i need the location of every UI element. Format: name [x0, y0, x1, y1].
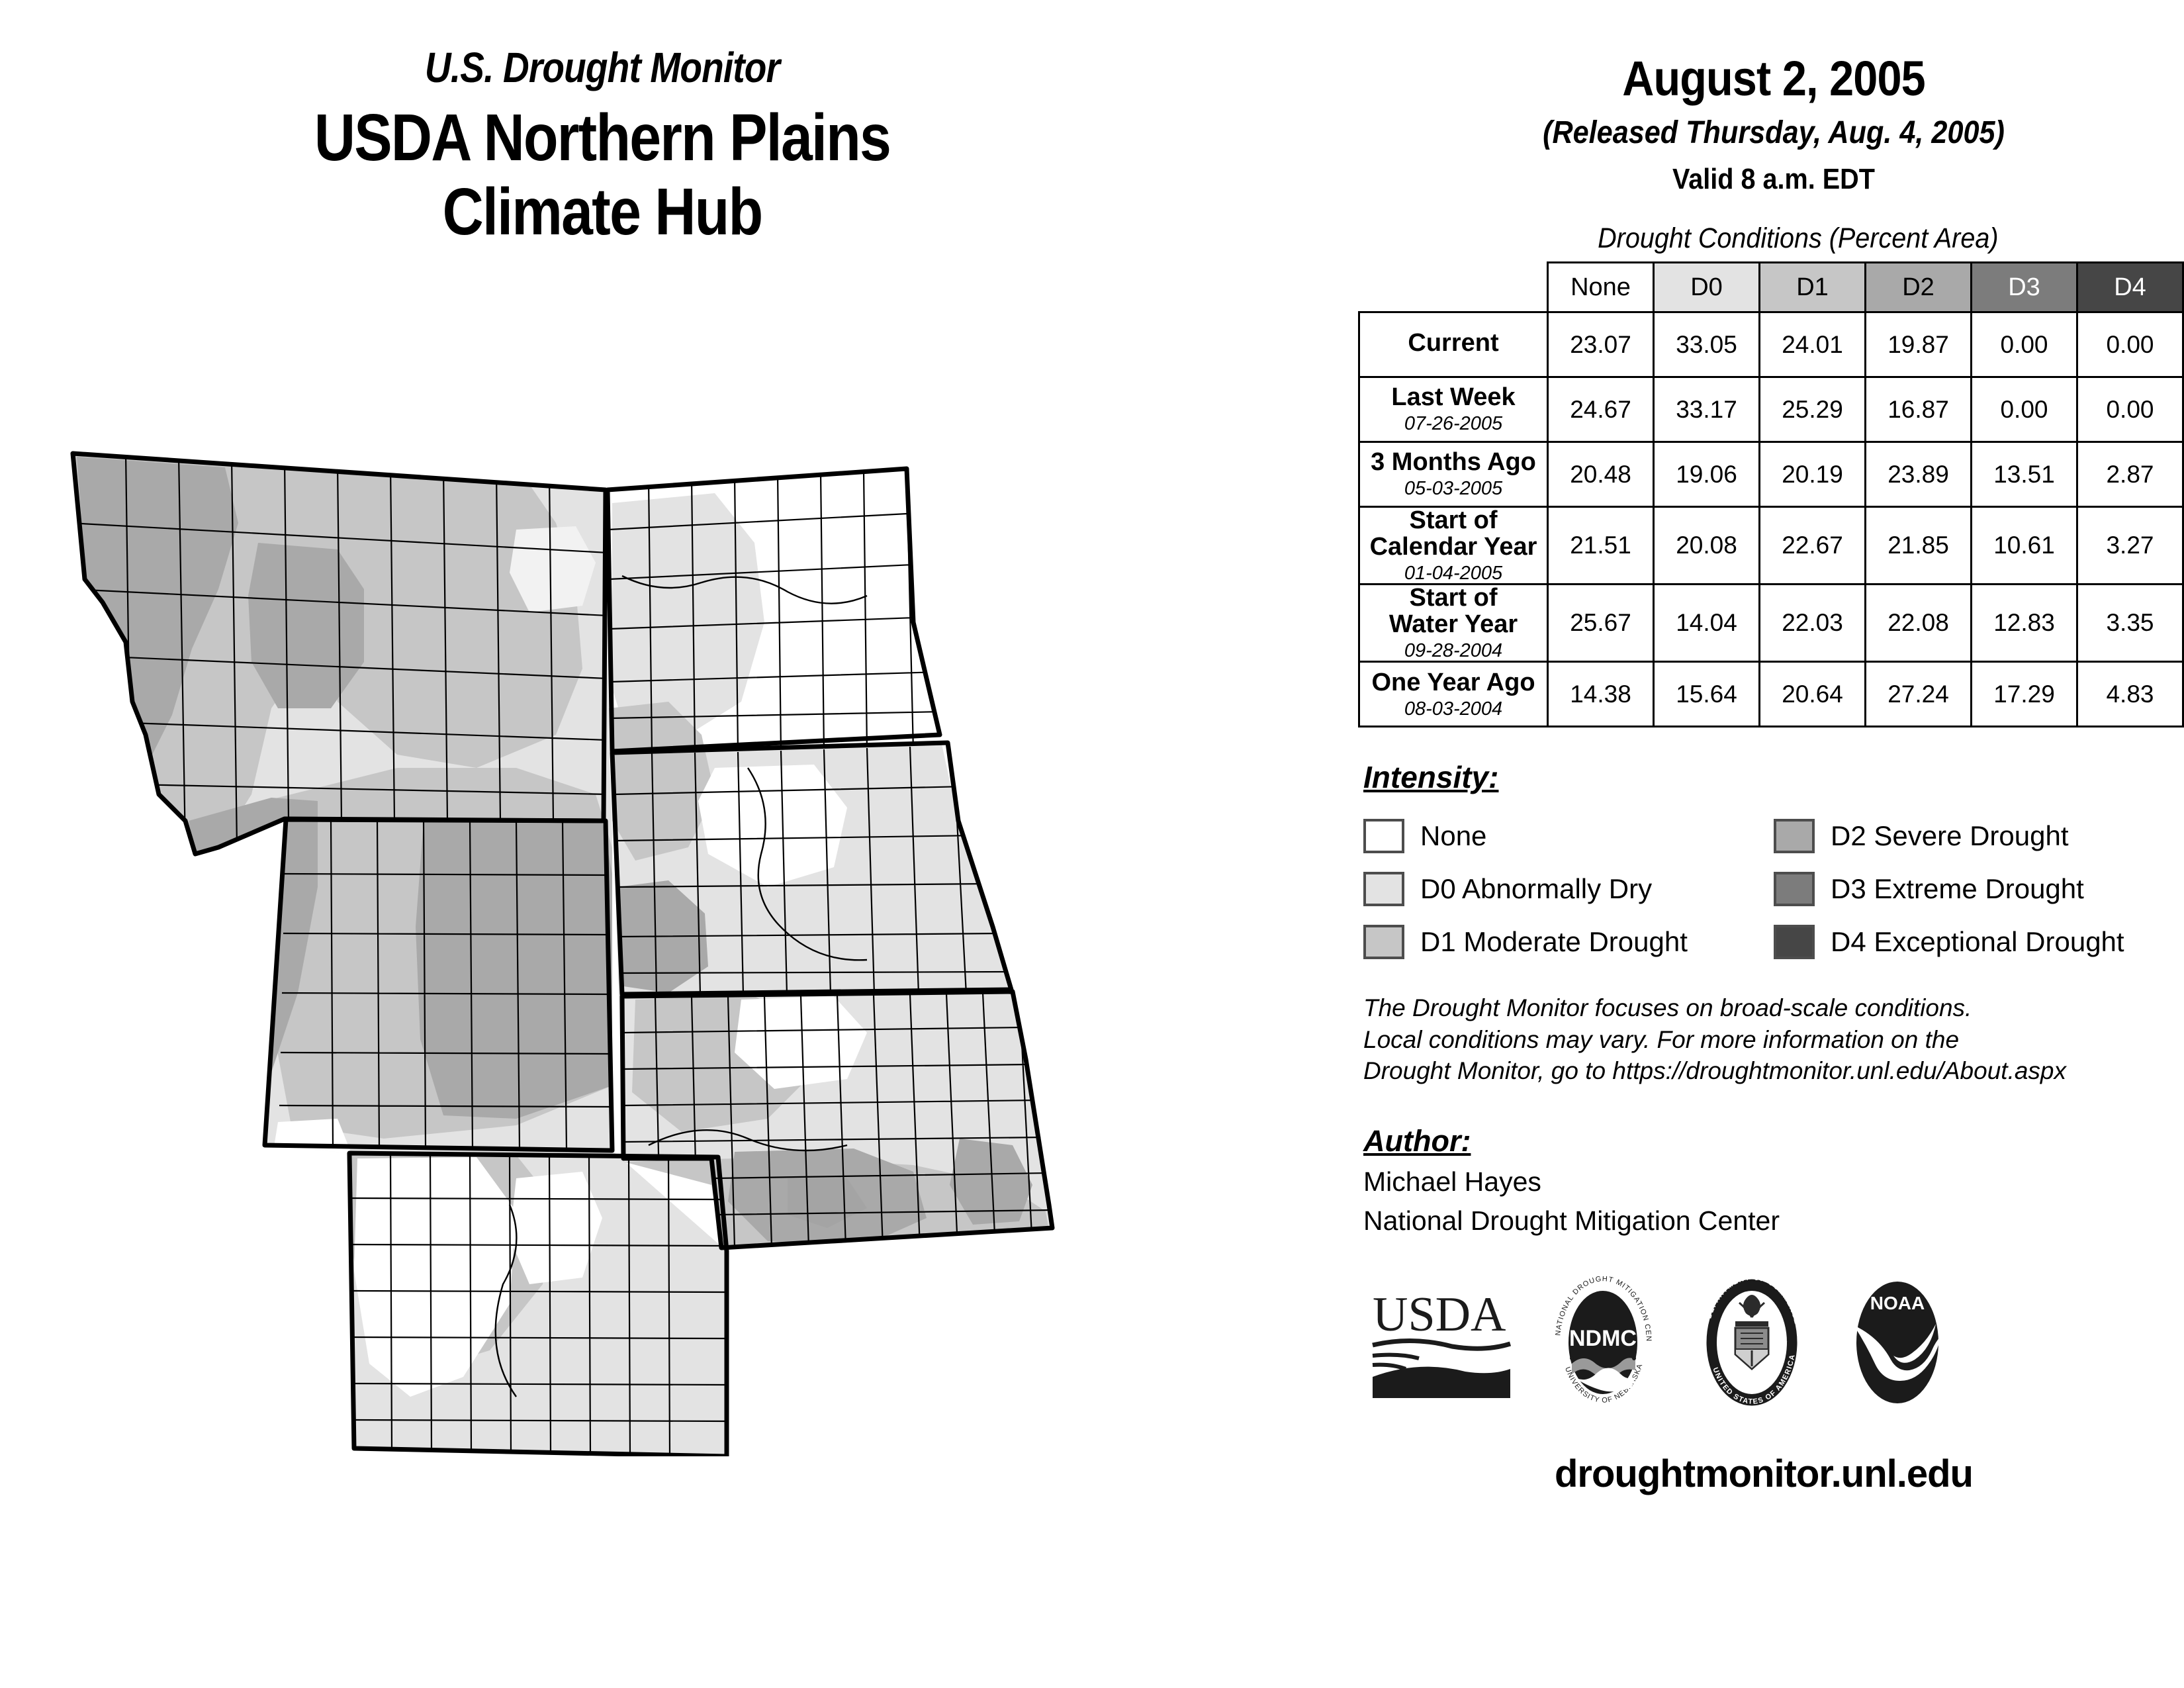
cell-d0: 14.04 [1654, 585, 1760, 662]
column-header-d1: D1 [1760, 263, 1866, 312]
release-date: (Released Thursday, Aug. 4, 2005) [1404, 115, 2143, 151]
none-pocket-wy-sw [273, 1119, 351, 1185]
swatch-d1-icon [1363, 925, 1404, 959]
cell-d2: 22.08 [1866, 585, 1972, 662]
table-header-row: None D0 D1 D2 D3 D4 [1359, 263, 2183, 312]
cell-d2: 23.89 [1866, 442, 1972, 507]
row-label-date: 08-03-2004 [1360, 699, 1547, 719]
page-title: USDA Northern Plains Climate Hub [84, 101, 1120, 249]
noaa-logo[interactable]: NOAA [1843, 1276, 1952, 1412]
cell-none: 21.51 [1548, 507, 1654, 585]
legend-label: D4 Exceptional Drought [1831, 926, 2124, 958]
legend-title: Intensity: [1363, 759, 2184, 795]
svg-text:NOAA: NOAA [1870, 1293, 1925, 1313]
disclaimer-text: The Drought Monitor focuses on broad-sca… [1363, 992, 2184, 1086]
column-header-d0: D0 [1654, 263, 1760, 312]
author-affiliation: National Drought Mitigation Center [1363, 1205, 2184, 1237]
row-label-text: Start ofCalendar Year [1360, 508, 1547, 561]
row-label-date: 09-28-2004 [1360, 641, 1547, 661]
table-row: Current 23.07 33.05 24.01 19.87 0.00 0.0… [1359, 312, 2183, 377]
table-row: Start ofWater Year 09-28-2004 25.67 14.0… [1359, 585, 2183, 662]
title-block: U.S. Drought Monitor USDA Northern Plain… [0, 46, 1205, 249]
author-name: Michael Hayes [1363, 1166, 2184, 1197]
cell-d3: 10.61 [1972, 507, 2077, 585]
legend-label: D1 Moderate Drought [1420, 926, 1688, 958]
cell-d3: 0.00 [1972, 312, 2077, 377]
page-title-line1: USDA Northern Plains [84, 101, 1120, 175]
svg-text:★: ★ [1779, 1337, 1788, 1348]
doc-seal-logo[interactable]: DEPARTMENT OF COMMERCE UNITED STATES OF … [1694, 1276, 1810, 1412]
author-title: Author: [1363, 1124, 2184, 1158]
valid-time: Valid 8 a.m. EDT [1404, 163, 2143, 196]
cell-none: 23.07 [1548, 312, 1654, 377]
table-row: Start ofCalendar Year 01-04-2005 21.51 2… [1359, 507, 2183, 585]
page-title-line2: Climate Hub [84, 175, 1120, 249]
cell-d4: 0.00 [2077, 377, 2183, 442]
swatch-d4-icon [1774, 925, 1815, 959]
cell-d0: 33.05 [1654, 312, 1760, 377]
disclaimer-line-1: The Drought Monitor focuses on broad-sca… [1363, 992, 2184, 1023]
cell-d3: 12.83 [1972, 585, 2077, 662]
map-svg[interactable] [53, 424, 1310, 1456]
cell-d2: 16.87 [1866, 377, 1972, 442]
cell-d0: 15.64 [1654, 662, 1760, 727]
logo-row: USDA NATIONAL DROUGHT MITIGATION C [1363, 1276, 2184, 1412]
row-label-text: Start ofWater Year [1360, 585, 1547, 638]
row-label-3-months-ago: 3 Months Ago 05-03-2005 [1359, 442, 1548, 507]
cell-d4: 4.83 [2077, 662, 2183, 727]
swatch-none-icon [1363, 819, 1404, 853]
column-header-d3: D3 [1972, 263, 2077, 312]
footer-url[interactable]: droughtmonitor.unl.edu [1363, 1452, 2184, 1496]
ndmc-logo[interactable]: NATIONAL DROUGHT MITIGATION CENTER UNIVE… [1545, 1276, 1661, 1412]
column-header-none: None [1548, 263, 1654, 312]
row-label-one-year-ago: One Year Ago 08-03-2004 [1359, 662, 1548, 727]
cell-d4: 0.00 [2077, 312, 2183, 377]
drought-map[interactable] [53, 424, 1310, 1456]
legend-item-d4: D4 Exceptional Drought [1774, 915, 2184, 968]
legend-column-left: None D0 Abnormally Dry D1 Moderate Droug… [1363, 810, 1774, 968]
drought-conditions-table: None D0 D1 D2 D3 D4 Current 23.07 33.05 … [1358, 261, 2184, 727]
right-column: August 2, 2005 (Released Thursday, Aug. … [1363, 0, 2184, 1688]
legend-item-d2: D2 Severe Drought [1774, 810, 2184, 863]
table-caption: Drought Conditions (Percent Area) [1396, 222, 2152, 255]
swatch-d3-icon [1774, 872, 1815, 906]
cell-d1: 22.67 [1760, 507, 1866, 585]
row-label-date: 05-03-2005 [1360, 479, 1547, 498]
row-label-last-week: Last Week 07-26-2005 [1359, 377, 1548, 442]
svg-text:NDMC: NDMC [1569, 1326, 1637, 1351]
disclaimer-line-2: Local conditions may vary. For more info… [1363, 1024, 2184, 1055]
drought-monitor-page: U.S. Drought Monitor USDA Northern Plain… [0, 0, 2184, 1688]
swatch-d2-icon [1774, 819, 1815, 853]
cell-none: 24.67 [1548, 377, 1654, 442]
cell-d1: 20.19 [1760, 442, 1866, 507]
left-column: U.S. Drought Monitor USDA Northern Plain… [0, 0, 1357, 1688]
program-title: U.S. Drought Monitor [84, 46, 1120, 89]
table-row: 3 Months Ago 05-03-2005 20.48 19.06 20.1… [1359, 442, 2183, 507]
legend-item-d0: D0 Abnormally Dry [1363, 863, 1774, 915]
legend-item-none: None [1363, 810, 1774, 863]
cell-d3: 17.29 [1972, 662, 2077, 727]
cell-d1: 22.03 [1760, 585, 1866, 662]
table-corner-cell [1359, 263, 1548, 312]
row-label-date: 07-26-2005 [1360, 414, 1547, 434]
row-label-current: Current [1359, 312, 1548, 377]
disclaimer-line-3[interactable]: Drought Monitor, go to https://droughtmo… [1363, 1055, 2184, 1086]
report-date: August 2, 2005 [1404, 50, 2143, 107]
cell-d0: 33.17 [1654, 377, 1760, 442]
row-label-start-of-calendar-year: Start ofCalendar Year 01-04-2005 [1359, 507, 1548, 585]
cell-d2: 21.85 [1866, 507, 1972, 585]
row-label-start-of-water-year: Start ofWater Year 09-28-2004 [1359, 585, 1548, 662]
svg-text:USDA: USDA [1373, 1288, 1506, 1342]
legend-item-d1: D1 Moderate Drought [1363, 915, 1774, 968]
column-header-d2: D2 [1866, 263, 1972, 312]
cell-d3: 13.51 [1972, 442, 2077, 507]
cell-d2: 27.24 [1866, 662, 1972, 727]
legend-label: None [1420, 820, 1486, 852]
cell-d2: 19.87 [1866, 312, 1972, 377]
swatch-d0-icon [1363, 872, 1404, 906]
cell-d4: 2.87 [2077, 442, 2183, 507]
cell-d3: 0.00 [1972, 377, 2077, 442]
cell-none: 25.67 [1548, 585, 1654, 662]
row-label-text: Current [1360, 330, 1547, 357]
cell-d1: 25.29 [1760, 377, 1866, 442]
intensity-legend: Intensity: None D0 Abnormally Dry D1 Mod… [1363, 759, 2184, 968]
row-label-text: One Year Ago [1360, 670, 1547, 696]
d2-region-wy-core [416, 821, 612, 1119]
table-row: One Year Ago 08-03-2004 14.38 15.64 20.6… [1359, 662, 2183, 727]
table-row: Last Week 07-26-2005 24.67 33.17 25.29 1… [1359, 377, 2183, 442]
row-label-text: 3 Months Ago [1360, 449, 1547, 476]
legend-label: D0 Abnormally Dry [1420, 873, 1652, 905]
row-label-text: Last Week [1360, 385, 1547, 411]
svg-text:★: ★ [1717, 1337, 1725, 1348]
cell-d1: 24.01 [1760, 312, 1866, 377]
legend-item-d3: D3 Extreme Drought [1774, 863, 2184, 915]
cell-d0: 20.08 [1654, 507, 1760, 585]
date-block: August 2, 2005 (Released Thursday, Aug. … [1363, 0, 2184, 196]
d2-region-mt-central [248, 543, 364, 708]
legend-label: D2 Severe Drought [1831, 820, 2069, 852]
cell-d0: 19.06 [1654, 442, 1760, 507]
cell-none: 14.38 [1548, 662, 1654, 727]
usda-logo[interactable]: USDA [1370, 1284, 1512, 1403]
legend-label: D3 Extreme Drought [1831, 873, 2084, 905]
legend-column-right: D2 Severe Drought D3 Extreme Drought D4 … [1774, 810, 2184, 968]
cell-d4: 3.27 [2077, 507, 2183, 585]
cell-d4: 3.35 [2077, 585, 2183, 662]
cell-none: 20.48 [1548, 442, 1654, 507]
cell-d1: 20.64 [1760, 662, 1866, 727]
row-label-date: 01-04-2005 [1360, 563, 1547, 583]
column-header-d4: D4 [2077, 263, 2183, 312]
